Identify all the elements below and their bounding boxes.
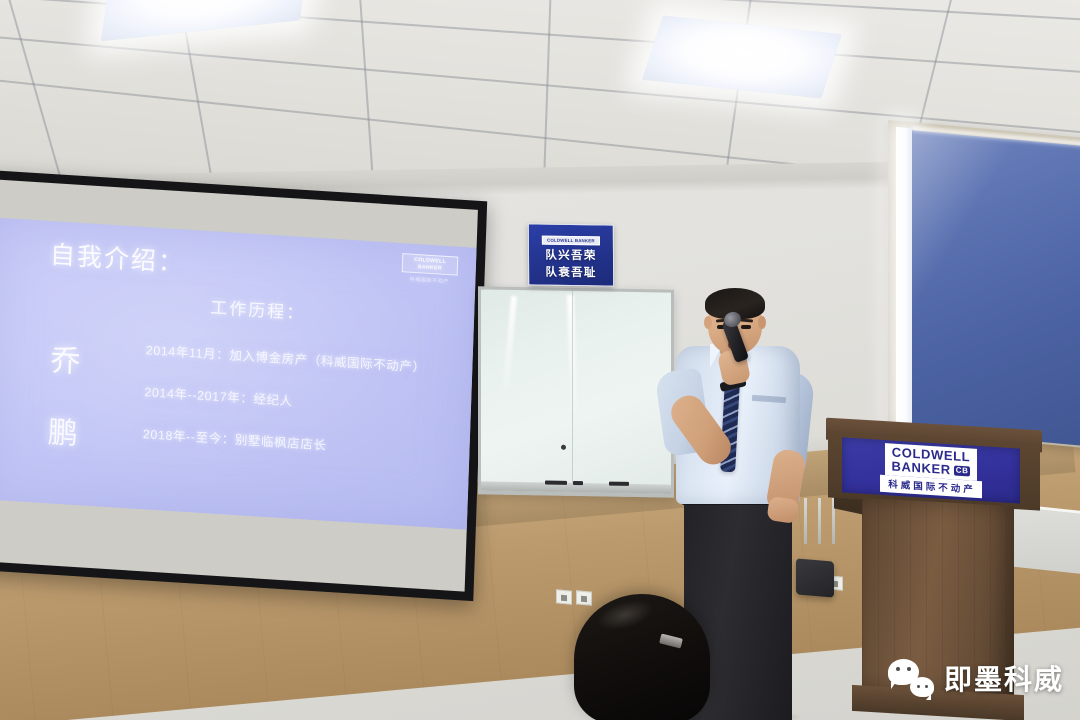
roller-blind[interactable] <box>912 130 1080 446</box>
wall-sign-line-1: 队兴吾荣 <box>529 248 613 264</box>
watermark-text: 即墨科威 <box>944 658 1064 698</box>
screen-surface: 自我介绍： 工作历程： 乔 鹏 2014年11月：加入博金房产（科威国际不动产）… <box>0 180 478 592</box>
wechat-bubble-small <box>910 677 934 697</box>
slide-bullet-list: 2014年11月：加入博金房产（科威国际不动产） 2014年--2017年：经纪… <box>142 339 459 485</box>
ceiling-light-right <box>642 15 842 98</box>
whiteboard-seam <box>572 291 573 492</box>
podium-logo-mark: CB <box>954 465 971 476</box>
presenter-ear-right <box>758 316 766 329</box>
presenter-left-hand <box>766 496 799 524</box>
wall-outlet-1 <box>556 589 572 604</box>
presenter-name-char-1: 乔 <box>49 325 82 399</box>
presenter-eye-right <box>741 325 751 329</box>
podium-brand-sign: COLDWELL BANKERCB 科威国际不动产 <box>842 437 1020 503</box>
slide-coldwell-banker-logo: COLDWELL BANKER 科威国际不动产 <box>401 253 458 285</box>
slide-logo-chinese: 科威国际不动产 <box>401 275 457 286</box>
wall-sign-badge: COLDWELL BANKER <box>542 236 600 246</box>
whiteboard-glare-1 <box>503 296 517 388</box>
ceiling-light-left <box>101 0 311 41</box>
wall-outlet-2 <box>576 590 592 605</box>
window-light-leak <box>896 127 912 428</box>
presentation-photo: 自我介绍： 工作历程： 乔 鹏 2014年11月：加入博金房产（科威国际不动产）… <box>0 0 1080 720</box>
wall-sign-line-2: 队衰吾耻 <box>529 265 613 281</box>
presenter-ear-left <box>704 316 712 329</box>
slide-bullet-1: 2014年11月：加入博金房产（科威国际不动产） <box>146 339 459 378</box>
slide-presenter-name: 乔 鹏 <box>47 325 83 471</box>
presenter-name-char-2: 鹏 <box>47 397 80 471</box>
podium-logo-box: COLDWELL BANKERCB <box>885 443 978 481</box>
whiteboard-magnet <box>561 445 566 450</box>
projection-screen: 自我介绍： 工作历程： 乔 鹏 2014年11月：加入博金房产（科威国际不动产）… <box>0 170 487 601</box>
whiteboard <box>478 286 674 497</box>
wechat-watermark: 即墨科威 <box>888 658 1064 698</box>
whiteboard-marker-2 <box>573 481 583 485</box>
slide-bullet-3: 2018年--至今：别墅临枫店店长 <box>143 423 456 462</box>
slide-subtitle: 工作历程： <box>210 293 306 324</box>
slide-bullet-2: 2014年--2017年：经纪人 <box>144 381 457 420</box>
slide-title: 自我介绍： <box>50 235 186 279</box>
whiteboard-marker-1 <box>545 480 567 484</box>
wechat-icon <box>888 659 934 697</box>
whiteboard-marker-3 <box>609 482 629 486</box>
slide-content: 自我介绍： 工作历程： 乔 鹏 2014年11月：加入博金房产（科威国际不动产）… <box>0 218 477 530</box>
window-with-blind <box>888 120 1080 448</box>
podium-logo-line2: BANKER <box>892 458 951 477</box>
podium-logo-block: COLDWELL BANKERCB 科威国际不动产 <box>880 443 982 498</box>
motivational-wall-sign: COLDWELL BANKER 队兴吾荣 队衰吾耻 <box>528 223 614 286</box>
slide-logo-box: COLDWELL BANKER <box>402 253 459 276</box>
